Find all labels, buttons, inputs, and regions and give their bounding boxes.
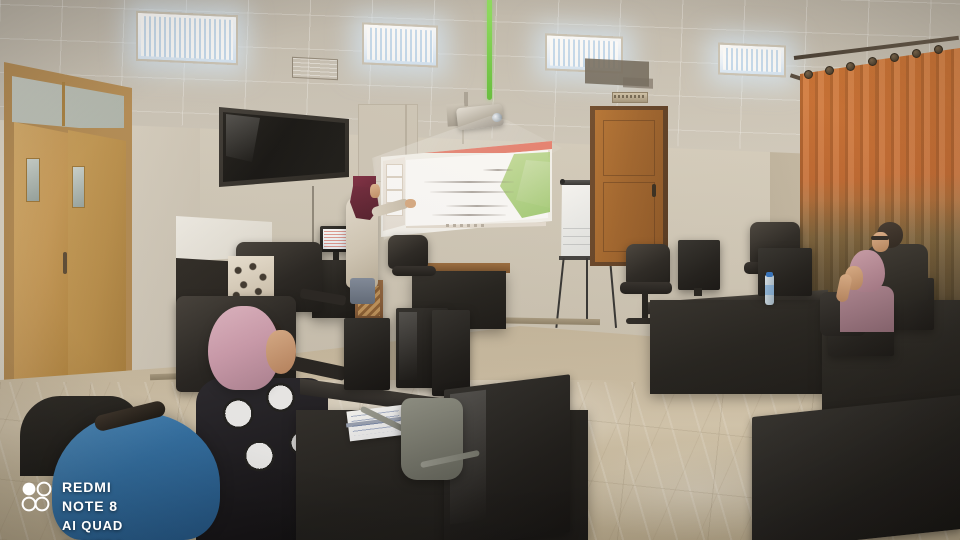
dark-ceiling-tile (623, 77, 653, 89)
ceiling-light-panel-4 (718, 43, 786, 78)
ceiling-air-vent (292, 57, 338, 80)
watermark-device-name: REDMI NOTE 8 (62, 478, 124, 516)
right-monitor-stand (694, 288, 702, 296)
slide-text-line (483, 169, 513, 171)
student-monitor-glare (399, 312, 417, 380)
projector-mount-rod (464, 92, 468, 106)
student-monitor[interactable] (432, 310, 470, 396)
curtain-grommet (890, 53, 899, 62)
grey-handbag (401, 398, 463, 480)
quad-camera-lens-icon (20, 480, 54, 514)
right-monitor[interactable] (678, 240, 720, 290)
bottle-label (765, 285, 774, 295)
bottle-cap (766, 272, 773, 277)
presenter-hand (405, 199, 416, 208)
student-monitor[interactable] (344, 318, 390, 390)
flipchart-clamp-knob (560, 179, 565, 184)
attendee-man-face (872, 232, 889, 252)
curtain-grommet (846, 62, 855, 71)
curtain-grommet (868, 57, 877, 66)
slide-thumbnail-panel (383, 155, 406, 231)
curtain-grommet (825, 66, 834, 75)
slide-text-line (432, 214, 506, 216)
door-handle[interactable] (63, 252, 67, 274)
transom-mullion (62, 82, 65, 126)
hanging-green-cable (487, 0, 492, 100)
slide-thumbnail (386, 164, 403, 177)
curtain-grommet (912, 49, 921, 58)
watermark-camera-mode: AI QUAD CAMERA (62, 516, 124, 540)
presenter-legs (350, 278, 375, 304)
instructor-monitor-stand (333, 252, 339, 260)
classroom-photograph: REDMI NOTE 8 AI QUAD CAMERA (0, 0, 960, 540)
slide-text-line (424, 181, 514, 183)
right-chair-back[interactable] (626, 244, 670, 286)
instructor-chair-seat[interactable] (392, 266, 436, 276)
glasses-icon (871, 236, 889, 240)
wall-plaque-text (614, 95, 644, 98)
slide-status-icons (446, 224, 488, 227)
right-door-panel (603, 182, 655, 252)
curtain-grommet (804, 70, 813, 79)
tv-cable (312, 186, 314, 248)
student-pink-face (266, 330, 296, 374)
door-vision-panel-right (72, 166, 85, 208)
flipchart-leg (586, 258, 588, 320)
door-vision-panel-left (26, 158, 40, 202)
ceiling-light-panel-1 (136, 11, 238, 65)
slide-text-line (446, 205, 508, 207)
presenter-face (370, 184, 380, 198)
curtain-grommet (934, 45, 943, 54)
instructor-chair-back[interactable] (388, 235, 428, 269)
ceiling-light-panel-2 (362, 22, 438, 67)
right-door-panel (603, 120, 655, 176)
left-door-leaf[interactable] (14, 122, 68, 396)
slide-thumbnail (386, 177, 403, 190)
right-door-handle[interactable] (652, 184, 656, 197)
slide-text-line (430, 191, 514, 193)
right-monitor-foreground[interactable] (752, 395, 960, 540)
right-desk-row-1 (650, 300, 826, 394)
